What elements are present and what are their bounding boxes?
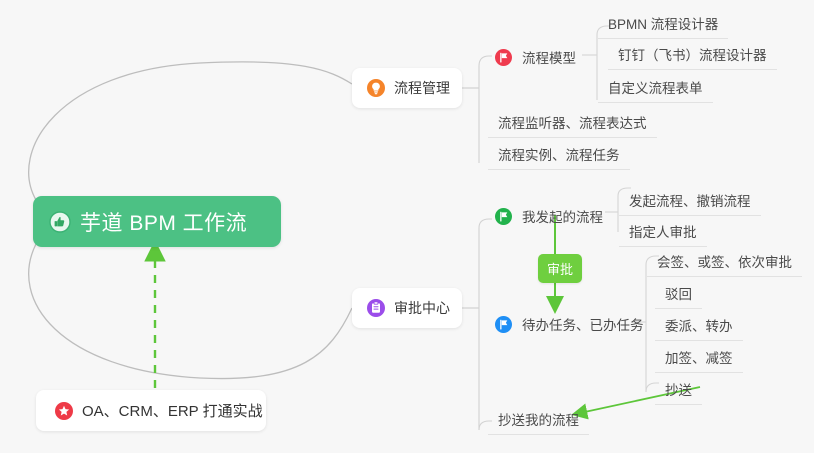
wire-process-spine-top-cap [479,56,492,66]
leaf-process-instance-task[interactable]: 流程实例、流程任务 [488,141,630,170]
footer-node-integration-practice[interactable]: OA、CRM、ERP 打通实战 [36,390,266,431]
lightbulb-icon [366,78,386,98]
leaf-reject[interactable]: 驳回 [655,280,702,309]
leaf-add-remove-sign[interactable]: 加签、减签 [655,344,743,373]
wire-approval-spine-top-cap [479,219,492,228]
leaf-delegate-transfer[interactable]: 委派、转办 [655,312,743,341]
root-label: 芋道 BPM 工作流 [80,207,247,237]
thumbs-up-icon [49,211,71,233]
mindmap-canvas: 芋道 BPM 工作流 流程管理 流程模型 BPMN 流程设计器 钉钉（飞书）流程… [0,0,814,453]
branch-label-process-management: 流程管理 [394,78,450,98]
node-process-model[interactable]: 流程模型 [493,44,586,72]
leaf-cc[interactable]: 抄送 [655,376,702,405]
flag-icon [493,47,513,67]
approval-badge: 审批 [538,254,582,283]
branch-label-approval-center: 审批中心 [394,298,450,318]
node-todo-done-label: 待办任务、已办任务 [522,314,644,334]
wire-root-to-approval-center [29,244,352,379]
wire-root-to-process-management [29,62,352,200]
leaf-custom-process-form[interactable]: 自定义流程表单 [598,74,713,103]
footer-node-label: OA、CRM、ERP 打通实战 [82,400,263,421]
leaf-bpmn-designer[interactable]: BPMN 流程设计器 [598,10,728,39]
node-process-model-label: 流程模型 [522,47,576,67]
flag-icon [493,314,513,334]
branch-node-process-management[interactable]: 流程管理 [352,68,462,108]
node-todo-done-tasks[interactable]: 待办任务、已办任务 [493,311,654,339]
leaf-dingtalk-feishu-designer[interactable]: 钉钉（飞书）流程设计器 [608,41,777,70]
root-node[interactable]: 芋道 BPM 工作流 [33,196,281,247]
clipboard-icon [366,298,386,318]
node-my-initiated-processes[interactable]: 我发起的流程 [493,203,613,231]
node-my-initiated-label: 我发起的流程 [522,206,603,226]
leaf-cc-to-me-processes[interactable]: 抄送我的流程 [488,406,589,435]
leaf-assignee-approval[interactable]: 指定人审批 [619,218,707,247]
leaf-process-listener-expression[interactable]: 流程监听器、流程表达式 [488,109,657,138]
branch-node-approval-center[interactable]: 审批中心 [352,288,462,328]
leaf-start-cancel-process[interactable]: 发起流程、撤销流程 [619,187,761,216]
leaf-countersign-orsign-sequential[interactable]: 会签、或签、依次审批 [647,248,802,277]
star-icon [54,401,74,421]
flag-icon [493,206,513,226]
